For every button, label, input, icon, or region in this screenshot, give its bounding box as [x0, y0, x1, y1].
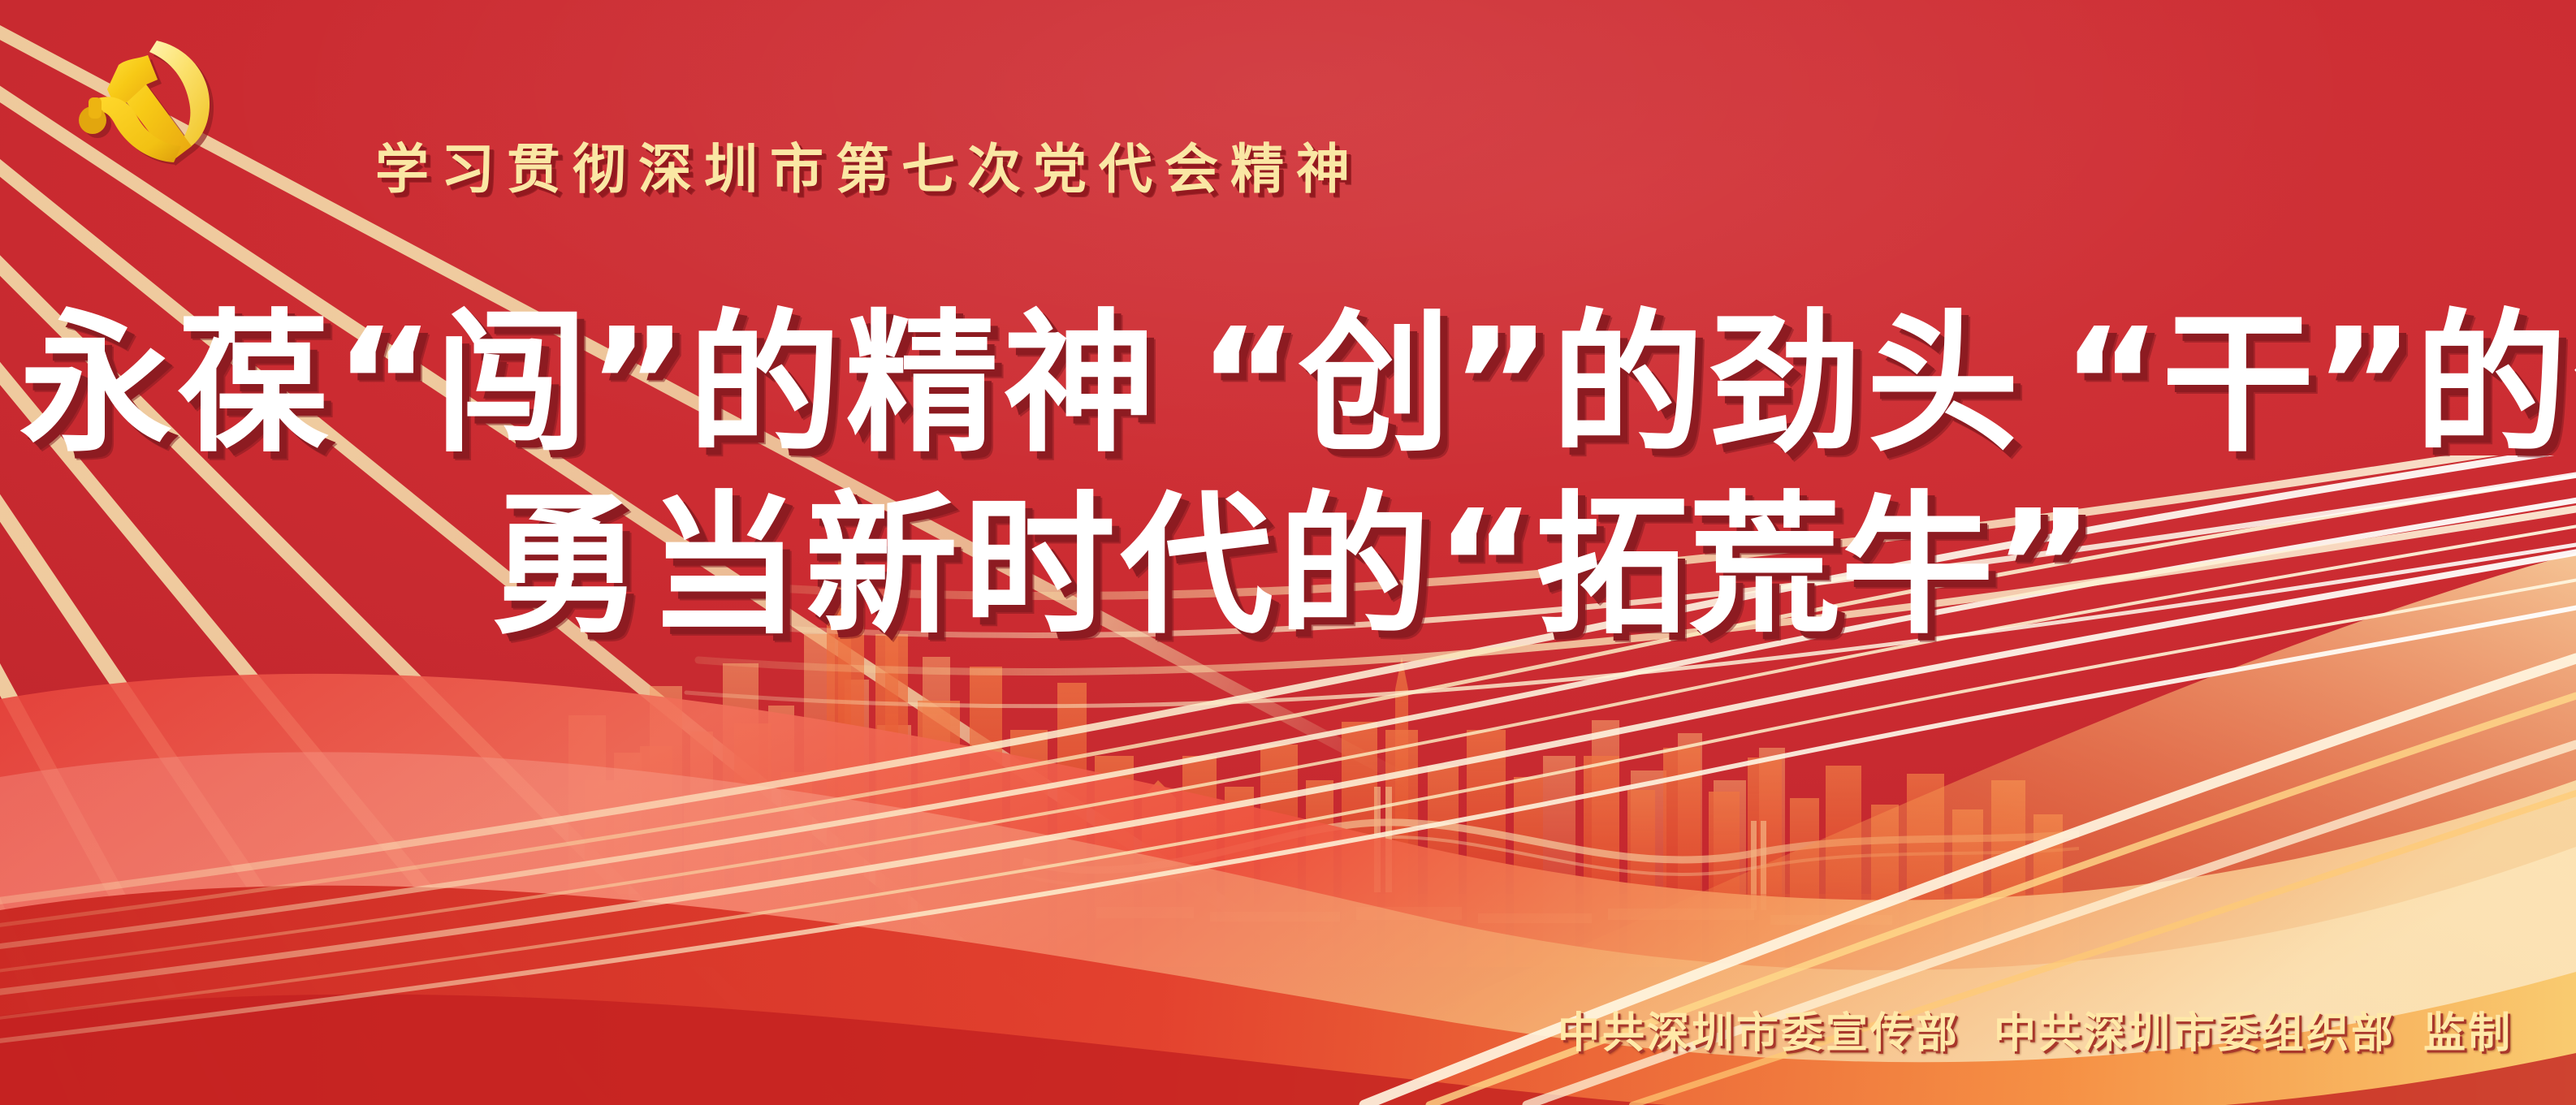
credit-org-publicity: 中共深圳市委宣传部	[1558, 1009, 1960, 1058]
headline-line2-quote1: “拓荒牛”	[1435, 477, 2094, 655]
propaganda-banner: 学习贯彻深圳市第七次党代会精神 永葆“闯”的精神“创”的劲头“干”的作风 勇当新…	[0, 0, 2576, 1105]
credit-org-organization: 中共深圳市委组织部	[1994, 1009, 2396, 1058]
headline-line-1: 永葆“闯”的精神“创”的劲头“干”的作风	[0, 309, 2576, 461]
headline-line1-quote3: “干”	[2061, 296, 2414, 473]
credits-line: 中共深圳市委宣传部中共深圳市委组织部监制	[1558, 1012, 2513, 1055]
headline-line1-quote2: “创”	[1198, 296, 1551, 473]
headline-line2-seg1: 勇当新时代的	[490, 477, 1435, 655]
headline-line1-seg4: 的作风	[2414, 296, 2576, 473]
headline-line1-quote1: “闯”	[335, 296, 688, 473]
credit-role: 监制	[2423, 1009, 2513, 1058]
strapline-text: 学习贯彻深圳市第七次党代会精神	[375, 143, 1362, 196]
headline-line1-seg3: 的劲头	[1551, 296, 2024, 473]
headline-block: 永葆“闯”的精神“创”的劲头“干”的作风 勇当新时代的“拓荒牛”	[0, 309, 2576, 643]
headline-line-2: 勇当新时代的“拓荒牛”	[0, 490, 2576, 643]
headline-line1-seg2: 的精神	[688, 296, 1160, 473]
cpc-hammer-sickle-emblem	[49, 23, 227, 173]
headline-line1-seg1: 永葆	[19, 296, 335, 473]
